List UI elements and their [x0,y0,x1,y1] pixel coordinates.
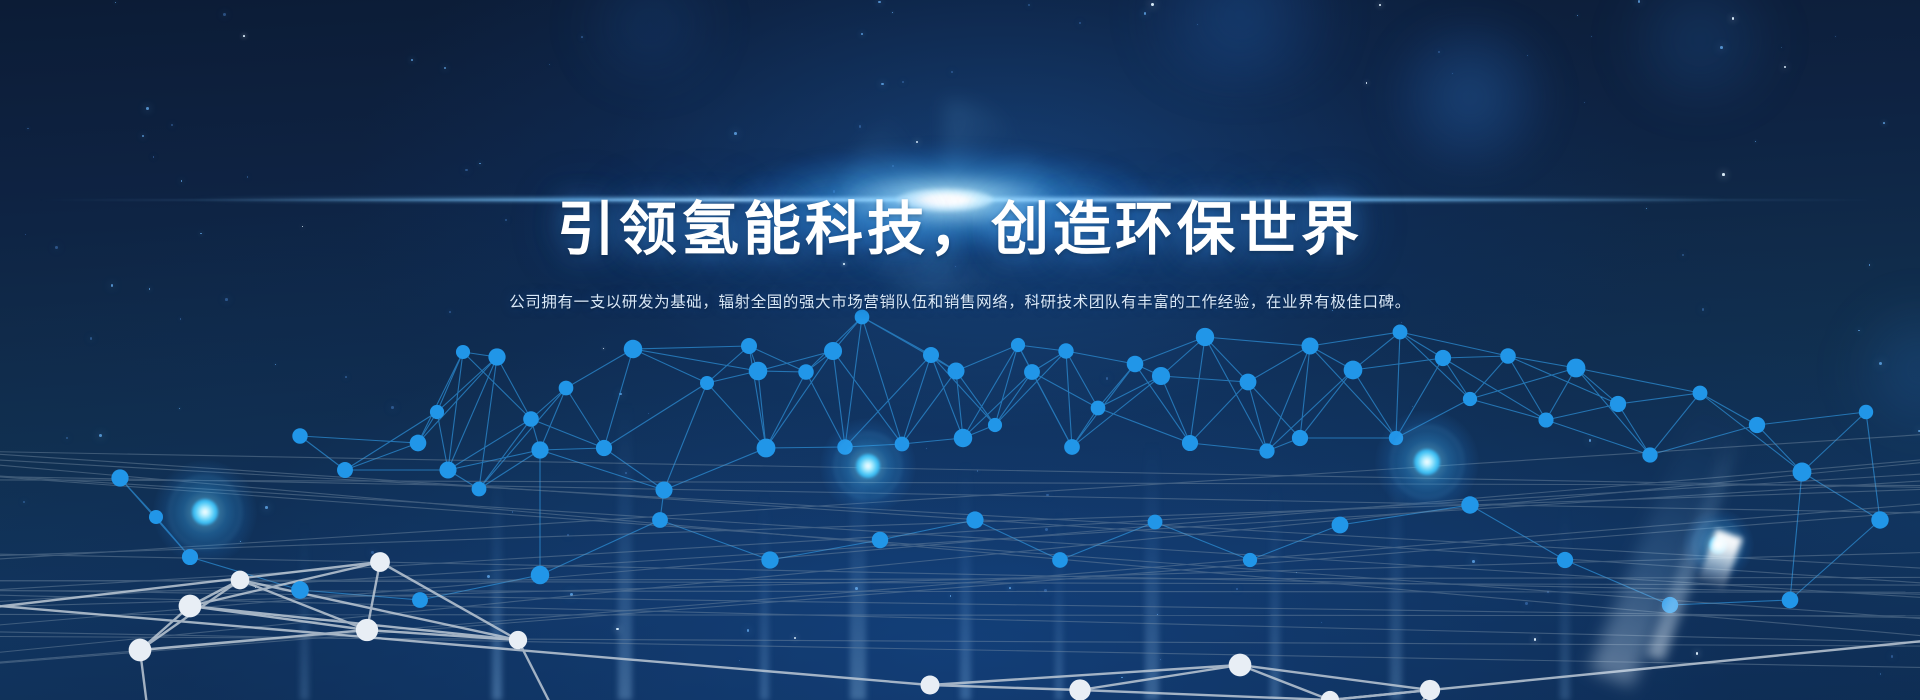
light-beam [618,400,632,700]
glow-node-halo [1375,410,1479,514]
star-particle [1722,173,1725,176]
mesh-link [931,355,995,425]
mesh-link [1565,560,1670,605]
mesh-near-link [1382,690,1430,700]
mesh-horizon-link [0,594,1920,644]
star-particle [180,318,181,319]
mesh-link [1300,346,1310,438]
light-shard-beam [1589,391,1744,686]
page-title: 引领氢能科技，创造环保世界 [0,196,1920,264]
mesh-link [1098,408,1190,443]
mesh-link [1161,376,1190,443]
star-particle [581,36,583,38]
mesh-link [1248,346,1310,382]
mesh-node [1058,343,1073,358]
mesh-node [1196,328,1214,346]
mesh-link [1443,358,1470,399]
mesh-node [488,348,505,365]
mesh-horizon-link [0,480,1920,486]
star-particle [90,337,93,340]
mesh-link [1018,345,1072,447]
glow-node-ring [1693,520,1743,570]
star-particle [747,629,749,631]
mesh-link [1135,364,1190,443]
mesh-near-link [930,665,1240,685]
mesh-node [954,429,972,447]
bokeh-orb [1600,0,1800,110]
mesh-link [120,478,190,557]
mesh-link [604,349,633,448]
star-particle [1160,659,1161,660]
mesh-link [437,357,497,412]
star-particle [1525,602,1527,604]
mesh-node [988,418,1002,432]
star-particle [1144,12,1146,14]
star-particle [1589,439,1592,442]
mesh-link [660,490,664,520]
mesh-link [1060,522,1155,560]
mesh-link [1066,351,1098,408]
mesh-node [1463,392,1477,406]
mesh-link [1248,382,1267,451]
glow-node-core [1414,449,1440,475]
mesh-node [749,362,768,381]
mesh-link [540,388,566,450]
mesh-link [1576,368,1650,455]
mesh-horizon-link [0,471,1920,594]
mesh-node [1859,405,1873,419]
mesh-node [741,338,757,354]
mesh-link [1135,364,1161,376]
mesh-link [749,346,766,448]
star-particle [275,364,276,365]
mesh-link [1250,525,1340,560]
glow-node-ring [1391,426,1464,499]
star-particle [916,141,918,143]
glow-node-halo [153,460,257,564]
mesh-link [448,419,531,470]
mesh-link [604,448,664,490]
mesh-link [664,448,766,490]
mesh-link [995,345,1018,425]
mesh-node [472,482,487,497]
mesh-link [1700,393,1757,425]
mesh-link [1790,472,1802,600]
mesh-near-node [920,675,939,694]
mesh-near-link [1330,690,1430,700]
mesh-link [479,388,566,489]
mesh-node [700,376,714,390]
glow-node-ring [169,476,242,549]
mesh-node [1064,439,1080,455]
mesh-node [1871,511,1888,528]
mesh-node [1389,431,1403,445]
star-particle [739,660,741,662]
star-particle [855,587,858,590]
mesh-node [439,461,456,478]
mesh-node [1557,552,1573,568]
mesh-link [995,351,1066,425]
star-particle [1720,46,1723,49]
star-particle [99,434,102,437]
mesh-horizon-link [0,487,1920,557]
mesh-near-node [509,631,527,649]
mesh-link [1396,332,1400,438]
mesh-link [1066,351,1072,447]
mesh-link [1396,358,1443,438]
light-beam [300,520,309,700]
mesh-horizon-link [0,553,1920,595]
mesh-near-link [1330,634,1920,700]
mesh-near-link [1240,665,1330,700]
mesh-link [566,388,604,448]
glow-node-halo [1682,509,1754,581]
star-particle [27,128,28,129]
mesh-link [862,317,931,355]
mesh-horizon-link [0,631,1920,669]
mesh-link [1470,356,1508,399]
star-particle [1401,322,1402,323]
mesh-node [531,441,548,458]
mesh-link [1190,443,1267,451]
mesh-near-node [231,571,250,590]
mesh-link [833,351,845,447]
star-particle [1106,377,1109,380]
mesh-link [806,372,845,447]
light-shard-core [1697,529,1742,591]
star-particle [1121,677,1123,679]
mesh-node [966,511,983,528]
mesh-link [531,419,604,448]
star-particle [812,374,813,375]
mesh-near-link [1080,665,1240,690]
mesh-node [559,381,574,396]
mesh-node [1243,553,1257,567]
mesh-node [410,435,427,452]
mesh-node [430,405,444,419]
star-particle [1046,494,1048,496]
star-particle [1527,55,1528,56]
star-particle [1045,528,1048,531]
mesh-link [1340,505,1470,525]
star-particle [179,408,180,409]
mesh-node [1052,552,1068,568]
mesh-near-node [370,552,390,572]
mesh-link [1190,337,1205,443]
star-particle [1858,330,1860,332]
mesh-link [806,351,833,372]
mesh-link [1267,346,1310,451]
mesh-link [707,383,766,448]
mesh-link [448,352,463,470]
star-particle [66,437,69,440]
mesh-link [758,351,833,371]
mesh-link [1802,472,1880,520]
light-beam [1145,440,1159,700]
mesh-link [1508,356,1618,404]
star-particle [1755,141,1756,142]
mesh-node [1024,364,1040,380]
star-particle [1151,3,1154,6]
star-particle [567,534,570,537]
star-particle [794,637,796,639]
mesh-node [1749,417,1765,433]
mesh-near-link [190,562,380,606]
mesh-near-link [140,580,240,650]
star-particle [1412,406,1413,407]
star-particle [1883,122,1885,124]
mesh-link [707,371,758,383]
star-particle [247,176,249,178]
star-particle [1835,36,1836,37]
star-particle [951,71,953,73]
mesh-node [523,411,539,427]
mesh-node [947,362,964,379]
mesh-link [975,520,1060,560]
mesh-node [412,592,428,608]
mesh-link [660,520,770,560]
star-particle [1157,614,1158,615]
mesh-link [1470,368,1576,399]
mesh-link [463,352,531,419]
light-beam [1390,450,1402,700]
mesh-node [182,549,198,565]
mesh-link [448,357,497,470]
star-particle [1534,638,1536,640]
mesh-node [655,481,672,498]
glow-node-halo [820,418,916,514]
mesh-horizon-link [0,580,1920,585]
mesh-horizon-link [0,457,1920,658]
star-particle [1584,102,1585,103]
mesh-link [963,372,1032,438]
mesh-near-link [240,580,518,640]
mesh-horizon-link [0,551,1920,608]
mesh-near-node [129,639,152,662]
star-particle [619,393,622,396]
mesh-node [624,340,643,359]
mesh-horizon-link [0,477,1920,605]
mesh-horizon-link [0,589,1920,618]
mesh-node [1642,447,1657,462]
mesh-link [1205,337,1310,346]
mesh-node [1152,367,1170,385]
mesh-near-node [179,595,202,618]
star-particle [859,125,861,127]
mesh-link [766,447,845,448]
mesh-link [1443,356,1508,358]
mesh-near-link [190,606,518,640]
mesh-near-link [930,685,1080,690]
star-particle [861,33,863,35]
glow-node-core [856,454,880,478]
mesh-link [1576,368,1618,404]
mesh-link [995,372,1032,425]
mesh-link [1161,376,1248,382]
star-particle [411,59,413,61]
mesh-link [1670,600,1790,605]
mesh-near-link [1080,690,1330,700]
mesh-node [652,512,668,528]
mesh-link [418,357,497,443]
mesh-link [1161,337,1205,376]
mesh-link [1470,399,1546,420]
mesh-node [895,437,910,452]
mesh-link [806,317,862,372]
mesh-link [902,355,931,444]
mesh-near-node [1229,654,1252,677]
mesh-horizon-link [0,476,1920,514]
star-particle [1379,4,1381,6]
mesh-link [963,425,995,438]
mesh-link [1072,376,1161,447]
star-particle [465,169,467,171]
mesh-horizon-link [0,431,1920,563]
star-particle [1452,73,1453,74]
star-particle [479,163,480,164]
star-particle [878,1,880,3]
mesh-node [1332,517,1349,534]
mesh-link [1072,364,1135,447]
mesh-link [862,317,956,371]
mesh-near-link [0,562,380,615]
mesh-link [707,346,749,383]
mesh-node [1259,443,1274,458]
bokeh-orb [1375,22,1565,172]
star-particle [926,448,927,449]
mesh-link [845,317,862,447]
star-particle [265,506,268,509]
mesh-horizon-link [0,577,1920,581]
mesh-link [1508,356,1576,368]
star-particle [146,107,149,110]
mesh-link [540,520,660,575]
mesh-node [1301,337,1318,354]
mesh-link [1190,382,1248,443]
star-particle [23,501,25,503]
mesh-link [1205,337,1267,451]
mesh-link [766,372,806,448]
mesh-node [1240,374,1257,391]
mesh-link [418,412,437,443]
mesh-link [1018,345,1032,372]
mesh-link [1546,368,1576,420]
mesh-link [1470,505,1565,560]
mesh-link [1757,412,1866,425]
mesh-link [531,388,566,419]
mesh-near-nodes [129,552,1440,700]
mesh-node [596,440,612,456]
mesh-link [833,317,862,351]
mesh-link [345,412,437,470]
mesh-near-node [1069,679,1090,700]
mesh-link [931,355,963,438]
light-beam [1055,510,1063,700]
light-beam [760,490,769,700]
mesh-link [1618,393,1700,404]
glow-node-core [1709,536,1727,554]
mesh-link [448,470,479,489]
mesh-node [1011,338,1025,352]
mesh-node [1793,463,1812,482]
mesh-link [1353,332,1400,370]
mesh-node [1127,356,1144,373]
mesh-near-link [190,606,367,630]
mesh-node [337,462,353,478]
mesh-link [749,346,758,371]
mesh-near-links [0,562,1920,700]
mesh-link [845,355,931,447]
hero-banner: 引领氢能科技，创造环保世界 公司拥有一支以研发为基础，辐射全国的强大市场营销队伍… [0,0,1920,700]
mesh-horizon-link [0,455,1920,630]
star-particle [1366,82,1368,84]
mesh-near-link [518,640,579,700]
mesh-node [824,342,842,360]
mesh-horizon-link [0,450,1920,587]
mesh-link [902,371,956,444]
star-particle [833,190,836,193]
star-particle [1784,66,1787,69]
light-beam [1560,500,1570,700]
mesh-near-link [190,580,240,606]
mesh-link [531,419,540,450]
mesh-link [1700,393,1802,472]
mesh-link [931,355,956,371]
mesh-node [291,581,309,599]
mesh-link [1205,337,1248,382]
mesh-link [1032,372,1098,408]
mesh-link [956,371,995,425]
mesh-node [1393,325,1408,340]
mesh-node [1148,515,1163,530]
mesh-horizon-link [0,636,1920,646]
mesh-horizon-link [0,472,1920,601]
star-particle [1781,47,1783,49]
mesh-link [1267,438,1300,451]
star-particle [603,348,604,349]
star-particle [1547,591,1548,592]
star-particle [371,551,373,553]
mesh-link [633,349,758,371]
mesh-link [1248,382,1300,438]
mesh-near-node [1420,680,1440,700]
star-particle [153,156,155,158]
mesh-link [479,450,540,489]
star-particle [171,124,173,126]
mesh-link [566,349,633,388]
glow-node-ring [834,432,901,499]
light-beam [960,460,971,700]
bokeh-orb [560,0,740,90]
mesh-link [1400,332,1470,399]
star-particle [444,67,446,69]
mesh-horizon-link [0,457,1920,572]
mesh-link [862,317,902,444]
star-particle [1236,588,1238,590]
mesh-link [300,436,418,443]
mesh-node [1782,592,1799,609]
mesh-link [1353,370,1396,438]
mesh-link [1790,520,1880,600]
mesh-link [956,345,1018,371]
star-particle [734,132,737,135]
mesh-link [1032,372,1072,447]
mesh-link [664,383,707,490]
mesh-link [418,352,463,443]
star-particle [892,165,894,167]
light-beam [1270,480,1280,700]
mesh-near-link [240,580,367,630]
